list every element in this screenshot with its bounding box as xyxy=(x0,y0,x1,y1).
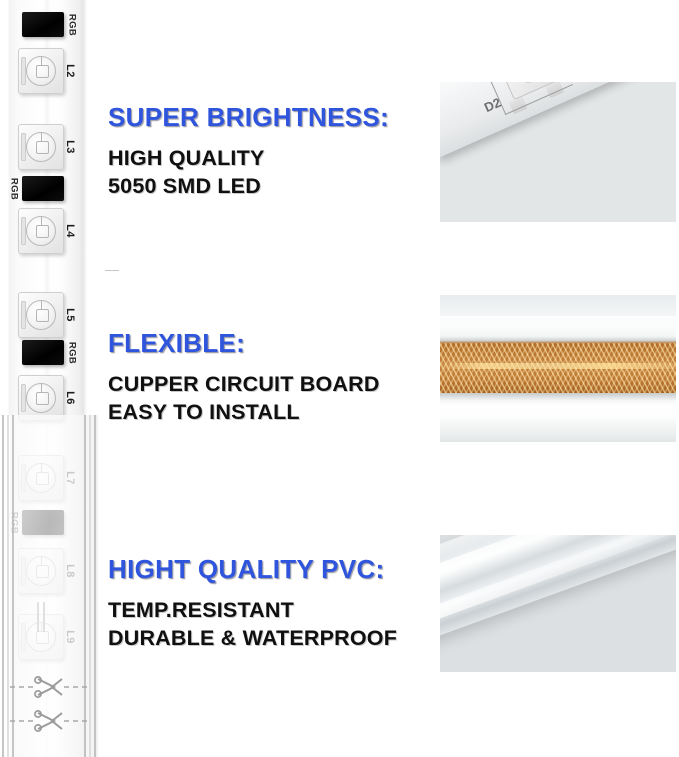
rgb-driver-ic: RGB xyxy=(22,510,64,535)
led-package-l6: L6 xyxy=(18,375,64,421)
copper-circuit-board-photo xyxy=(440,295,676,442)
pcb-strip-illustration: R11 D2 + - xyxy=(440,82,676,158)
led-package-l8: L8 xyxy=(18,548,64,594)
led-lens-icon xyxy=(26,556,56,586)
product-infographic: RGB L2 L3 RGB L4 L5 xyxy=(0,0,679,757)
cut-line-marker xyxy=(8,676,90,698)
pvc-sleeve-end-photo xyxy=(440,535,676,672)
led-label-l8: L8 xyxy=(64,564,76,578)
feature-body-line: DURABLE & WATERPROOF xyxy=(108,625,433,653)
copper-braid-band xyxy=(440,343,676,394)
led-package-l7: L7 xyxy=(18,455,64,501)
solder-pads xyxy=(36,602,52,632)
led-label-l3: L3 xyxy=(64,140,76,154)
feature-body-line: EASY TO INSTALL xyxy=(108,399,433,427)
feature-body-line: HIGH QUALITY xyxy=(108,145,433,173)
rgb-driver-ic: RGB xyxy=(22,340,64,365)
led-package-l3: L3 xyxy=(18,124,64,170)
feature-block-hight-quality-pvc: HIGHT QUALITY PVC: TEMP.RESISTANT DURABL… xyxy=(108,556,433,653)
led-pcb-macro-photo: R11 D2 + - xyxy=(440,82,676,222)
rgb-driver-ic: RGB xyxy=(22,176,64,201)
pvc-rail-icon xyxy=(89,415,91,757)
pvc-sleeve-illustration xyxy=(440,535,676,646)
pvc-highlight xyxy=(440,316,676,329)
led-lens-icon xyxy=(26,56,56,86)
led-label-l7: L7 xyxy=(64,471,76,485)
led-lens-icon xyxy=(26,383,56,413)
pvc-rail-icon xyxy=(7,415,9,757)
led-label-l2: L2 xyxy=(64,64,76,78)
feature-block-flexible: FLEXIBLE: CUPPER CIRCUIT BOARD EASY TO I… xyxy=(108,330,433,427)
led-package-l5: L5 xyxy=(18,292,64,338)
feature-body-line: TEMP.RESISTANT xyxy=(108,597,433,625)
feature-body-line: CUPPER CIRCUIT BOARD xyxy=(108,371,433,399)
feature-body-line: 5050 SMD LED xyxy=(108,173,433,201)
led-lens-icon xyxy=(26,216,56,246)
led-lens-icon xyxy=(26,463,56,493)
rgb-ic-label: RGB xyxy=(66,341,77,363)
led-package-l4: L4 xyxy=(18,208,64,254)
scissors-icon xyxy=(8,710,90,732)
feature-title-super-brightness: SUPER BRIGHTNESS: xyxy=(108,104,433,131)
rgb-ic-label: RGB xyxy=(66,13,77,35)
scissors-icon xyxy=(8,676,90,698)
led-strip-column: RGB L2 L3 RGB L4 L5 xyxy=(0,0,98,757)
led-lens-icon xyxy=(26,300,56,330)
led-label-l5: L5 xyxy=(64,308,76,322)
pvc-rail-icon xyxy=(84,415,86,757)
section-divider xyxy=(105,270,119,271)
led-lens-icon xyxy=(26,132,56,162)
feature-body-flexible: CUPPER CIRCUIT BOARD EASY TO INSTALL xyxy=(108,371,433,427)
clear-pvc-tube xyxy=(440,295,676,442)
cut-line-marker xyxy=(8,710,90,732)
feature-title-hight-quality-pvc: HIGHT QUALITY PVC: xyxy=(108,556,433,583)
led-package-l2: L2 xyxy=(18,48,64,94)
feature-body-super-brightness: HIGH QUALITY 5050 SMD LED xyxy=(108,145,433,201)
rgb-driver-ic: RGB xyxy=(22,12,64,37)
feature-body-hight-quality-pvc: TEMP.RESISTANT DURABLE & WATERPROOF xyxy=(108,597,433,653)
rgb-ic-label: RGB xyxy=(9,511,20,533)
feature-block-super-brightness: SUPER BRIGHTNESS: HIGH QUALITY 5050 SMD … xyxy=(108,104,433,201)
led-label-l4: L4 xyxy=(64,224,76,238)
led-label-l6: L6 xyxy=(64,391,76,405)
pvc-highlight xyxy=(440,404,676,420)
led-label-l9: L9 xyxy=(64,630,76,644)
pvc-rail-icon xyxy=(94,415,96,757)
pvc-rail-icon xyxy=(2,415,4,757)
rgb-ic-label: RGB xyxy=(9,177,20,199)
feature-title-flexible: FLEXIBLE: xyxy=(108,330,433,357)
